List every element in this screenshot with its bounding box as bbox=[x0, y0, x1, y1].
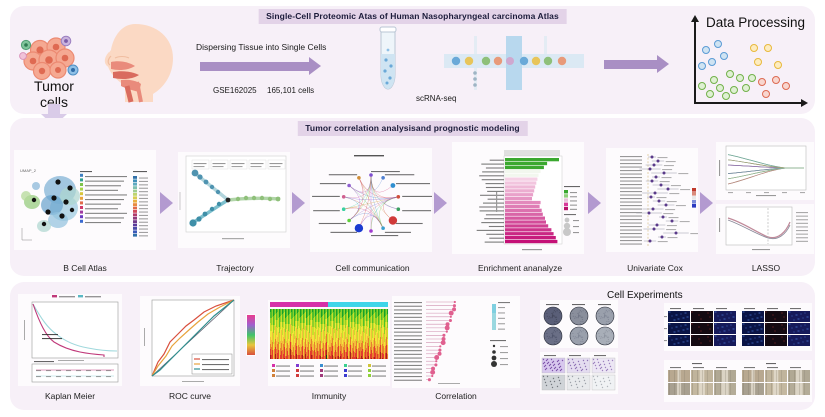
kaplan-meier-plot bbox=[18, 294, 122, 386]
arrow-trajectory-to-cellcomm bbox=[292, 192, 305, 214]
stage-label-roc-curve: ROC curve bbox=[138, 391, 242, 401]
dispersing-tissue-label: Dispersing Tissue into Single Cells bbox=[196, 42, 326, 52]
cell-communication-circos bbox=[310, 148, 432, 252]
wound-healing-images bbox=[664, 360, 812, 402]
univariate-cox-forest-plot bbox=[606, 148, 698, 252]
scatter-point-green bbox=[710, 76, 718, 84]
scatter-point-yellow bbox=[754, 58, 762, 66]
panel-title-mid: Tumor correlation analysisand prognostic… bbox=[297, 121, 527, 136]
arrow-enrichment-to-cox bbox=[588, 192, 601, 214]
sample-tube-illustration bbox=[374, 26, 402, 92]
stage-label-correlation: Correlation bbox=[392, 391, 520, 401]
roc-side-colorbar bbox=[246, 314, 256, 356]
scatter-point-green bbox=[716, 84, 724, 92]
stage-label-lasso: LASSO bbox=[720, 263, 812, 273]
immunofluorescence-images bbox=[664, 303, 812, 351]
dispersing-arrow bbox=[200, 62, 310, 71]
scatter-point-red bbox=[772, 76, 780, 84]
tumor-cell-cluster-illustration bbox=[18, 34, 90, 82]
stage-label-univariate-cox: Univariate Cox bbox=[600, 263, 710, 273]
scatter-y-axis bbox=[694, 22, 696, 104]
immunity-heatmap bbox=[268, 300, 390, 386]
stage-label-enrichment: Enrichment ananalyze bbox=[445, 263, 595, 273]
scatter-point-green bbox=[730, 86, 738, 94]
scatter-point-red bbox=[782, 82, 790, 90]
scatter-point-blue bbox=[708, 58, 716, 66]
microfluidic-chip-illustration bbox=[444, 36, 584, 90]
cell-experiments-label: Cell Experiments bbox=[607, 290, 683, 301]
scatter-point-blue bbox=[702, 46, 710, 54]
scatter-point-blue bbox=[698, 62, 706, 70]
graphical-abstract-figure: Single-Cell Proteomic Atas of Human Naso… bbox=[0, 0, 825, 417]
top-to-mid-arrow-stem bbox=[48, 104, 60, 114]
trajectory-plot bbox=[178, 152, 290, 248]
cell-count-label: 165,101 cells bbox=[267, 86, 314, 95]
stage-label-trajectory: Trajectory bbox=[175, 263, 295, 273]
transwell-assay-images bbox=[540, 352, 618, 394]
scatter-x-axis-arrow bbox=[801, 99, 808, 107]
scatter-x-axis bbox=[694, 102, 802, 104]
scrna-seq-label: scRNA-seq bbox=[416, 94, 456, 103]
stage-label-immunity: Immunity bbox=[268, 391, 390, 401]
panel-title-top: Single-Cell Proteomic Atas of Human Naso… bbox=[258, 9, 567, 24]
scatter-point-blue bbox=[714, 40, 722, 48]
accession-label: GSE162025 bbox=[213, 86, 257, 95]
scatter-point-red bbox=[758, 78, 766, 86]
scatter-point-green bbox=[736, 74, 744, 82]
scatter-point-blue bbox=[720, 52, 728, 60]
scatter-point-yellow bbox=[774, 61, 782, 69]
scatter-point-green bbox=[726, 70, 734, 78]
scatter-point-yellow bbox=[750, 44, 758, 52]
scatter-point-green bbox=[698, 82, 706, 90]
scatter-point-green bbox=[722, 92, 730, 100]
tumor-label-line1: Tumor bbox=[18, 78, 90, 94]
scatter-point-green bbox=[742, 84, 750, 92]
b-cell-atlas-umap: UMAP_2 bbox=[14, 150, 156, 250]
correlation-lollipop-plot bbox=[392, 296, 520, 388]
scatter-y-axis-arrow bbox=[691, 15, 699, 22]
scatter-point-green bbox=[706, 90, 714, 98]
lasso-coefficient-path-plot bbox=[716, 142, 814, 200]
svg-text:UMAP_2: UMAP_2 bbox=[20, 168, 37, 173]
stage-label-kaplan-meier: Kaplan Meier bbox=[14, 391, 126, 401]
head-nasopharynx-illustration bbox=[95, 22, 181, 104]
colony-formation-assay-images bbox=[540, 300, 618, 348]
lasso-cv-deviance-plot bbox=[716, 204, 814, 254]
stage-label-b-cell-atlas: B Cell Atlas bbox=[10, 263, 160, 273]
scatter-point-yellow bbox=[764, 44, 772, 52]
to-data-processing-arrow bbox=[604, 60, 658, 69]
stage-label-cell-communication: Cell communication bbox=[300, 263, 445, 273]
enrichment-barplot bbox=[452, 142, 584, 254]
scatter-point-green bbox=[748, 74, 756, 82]
data-processing-label: Data Processing bbox=[706, 15, 805, 30]
roc-curve-plot bbox=[140, 296, 240, 386]
arrow-cellcomm-to-enrichment bbox=[434, 192, 447, 214]
scatter-point-red bbox=[762, 90, 770, 98]
arrow-atlas-to-trajectory bbox=[160, 192, 173, 214]
arrow-cox-to-lasso bbox=[700, 192, 713, 214]
